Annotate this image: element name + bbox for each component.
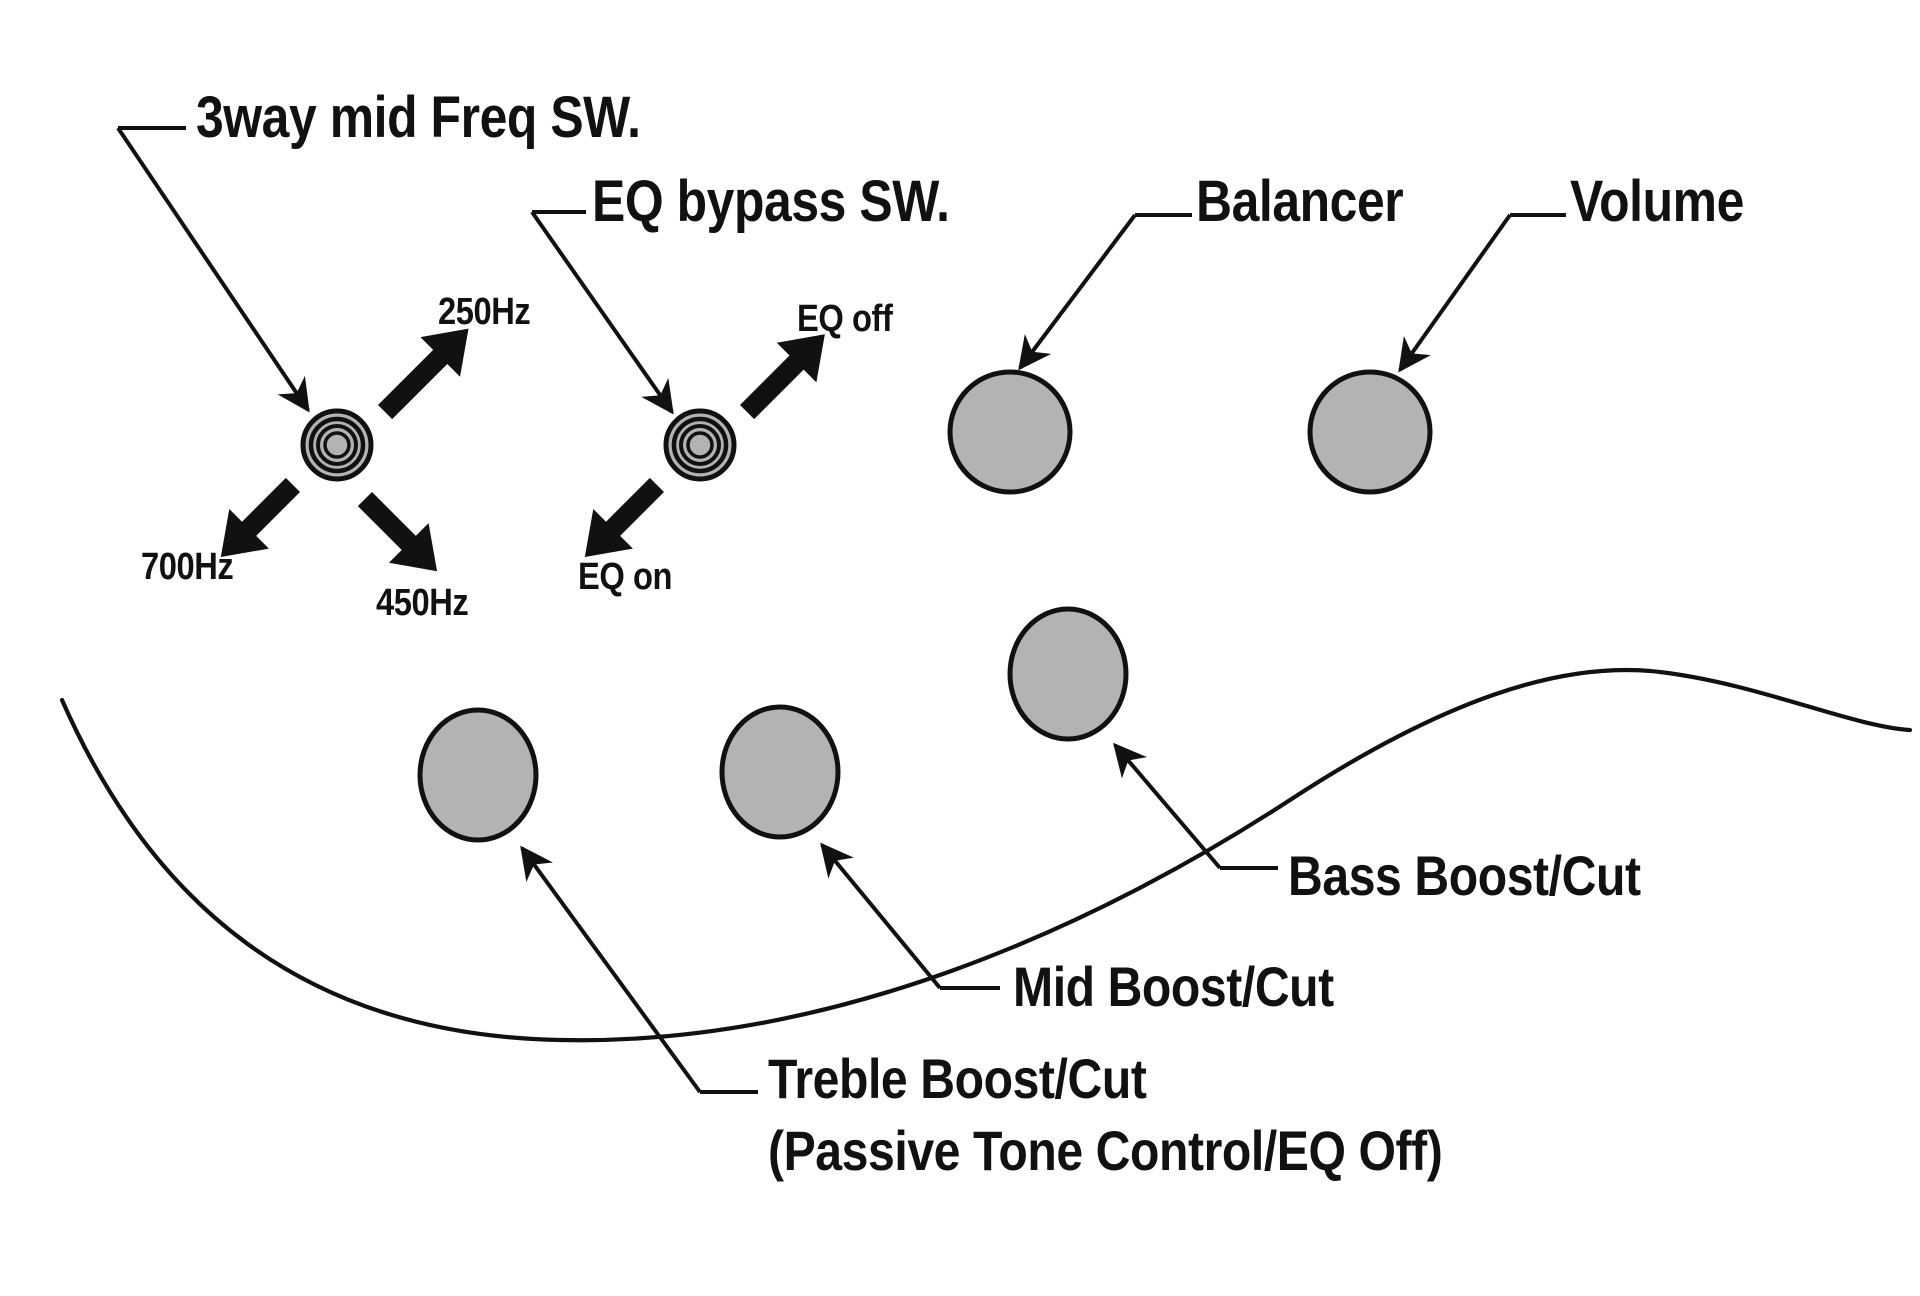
callout-label-volume: Volume [1570, 172, 1744, 233]
callout-label-mid-boost-cut: Mid Boost/Cut [1013, 958, 1334, 1017]
callout-label-eq-bypass-sw: EQ bypass SW. [592, 172, 950, 233]
leader-eq-bypass-sw [532, 212, 672, 412]
switch-position-label-eq-on: EQ on [578, 558, 672, 598]
callout-label-balancer: Balancer [1196, 172, 1403, 233]
switch-position-label-250hz: 250Hz [438, 293, 530, 333]
eq-bypass-switch[interactable] [666, 411, 734, 479]
balancer-knob[interactable] [950, 372, 1070, 492]
leader-mid-boost-cut [822, 845, 1000, 988]
callout-label-treble-boost-cut-line2: (Passive Tone Control/EQ Off) [768, 1122, 1442, 1181]
volume-knob[interactable] [1310, 372, 1430, 492]
leader-balancer [1020, 215, 1192, 368]
callout-label-mid-freq-sw: 3way mid Freq SW. [196, 88, 641, 149]
callout-label-bass-boost-cut: Bass Boost/Cut [1288, 847, 1641, 906]
leader-bass-boost-cut [1115, 745, 1278, 868]
mid-knob[interactable] [722, 707, 838, 837]
mid-freq-switch[interactable] [303, 411, 371, 479]
switch-position-label-700hz: 700Hz [141, 548, 233, 588]
callout-label-treble-boost-cut-line1: Treble Boost/Cut [768, 1050, 1146, 1109]
treble-knob[interactable] [420, 710, 536, 840]
switch-position-label-450hz: 450Hz [376, 584, 468, 624]
leader-volume [1400, 215, 1566, 370]
bass-knob[interactable] [1010, 609, 1126, 739]
diagram-canvas: 3way mid Freq SW. EQ bypass SW. Balancer… [0, 0, 1920, 1296]
leader-mid-freq-sw [118, 128, 308, 410]
leader-treble-boost-cut [522, 848, 758, 1092]
switch-position-label-eq-off: EQ off [797, 300, 892, 340]
